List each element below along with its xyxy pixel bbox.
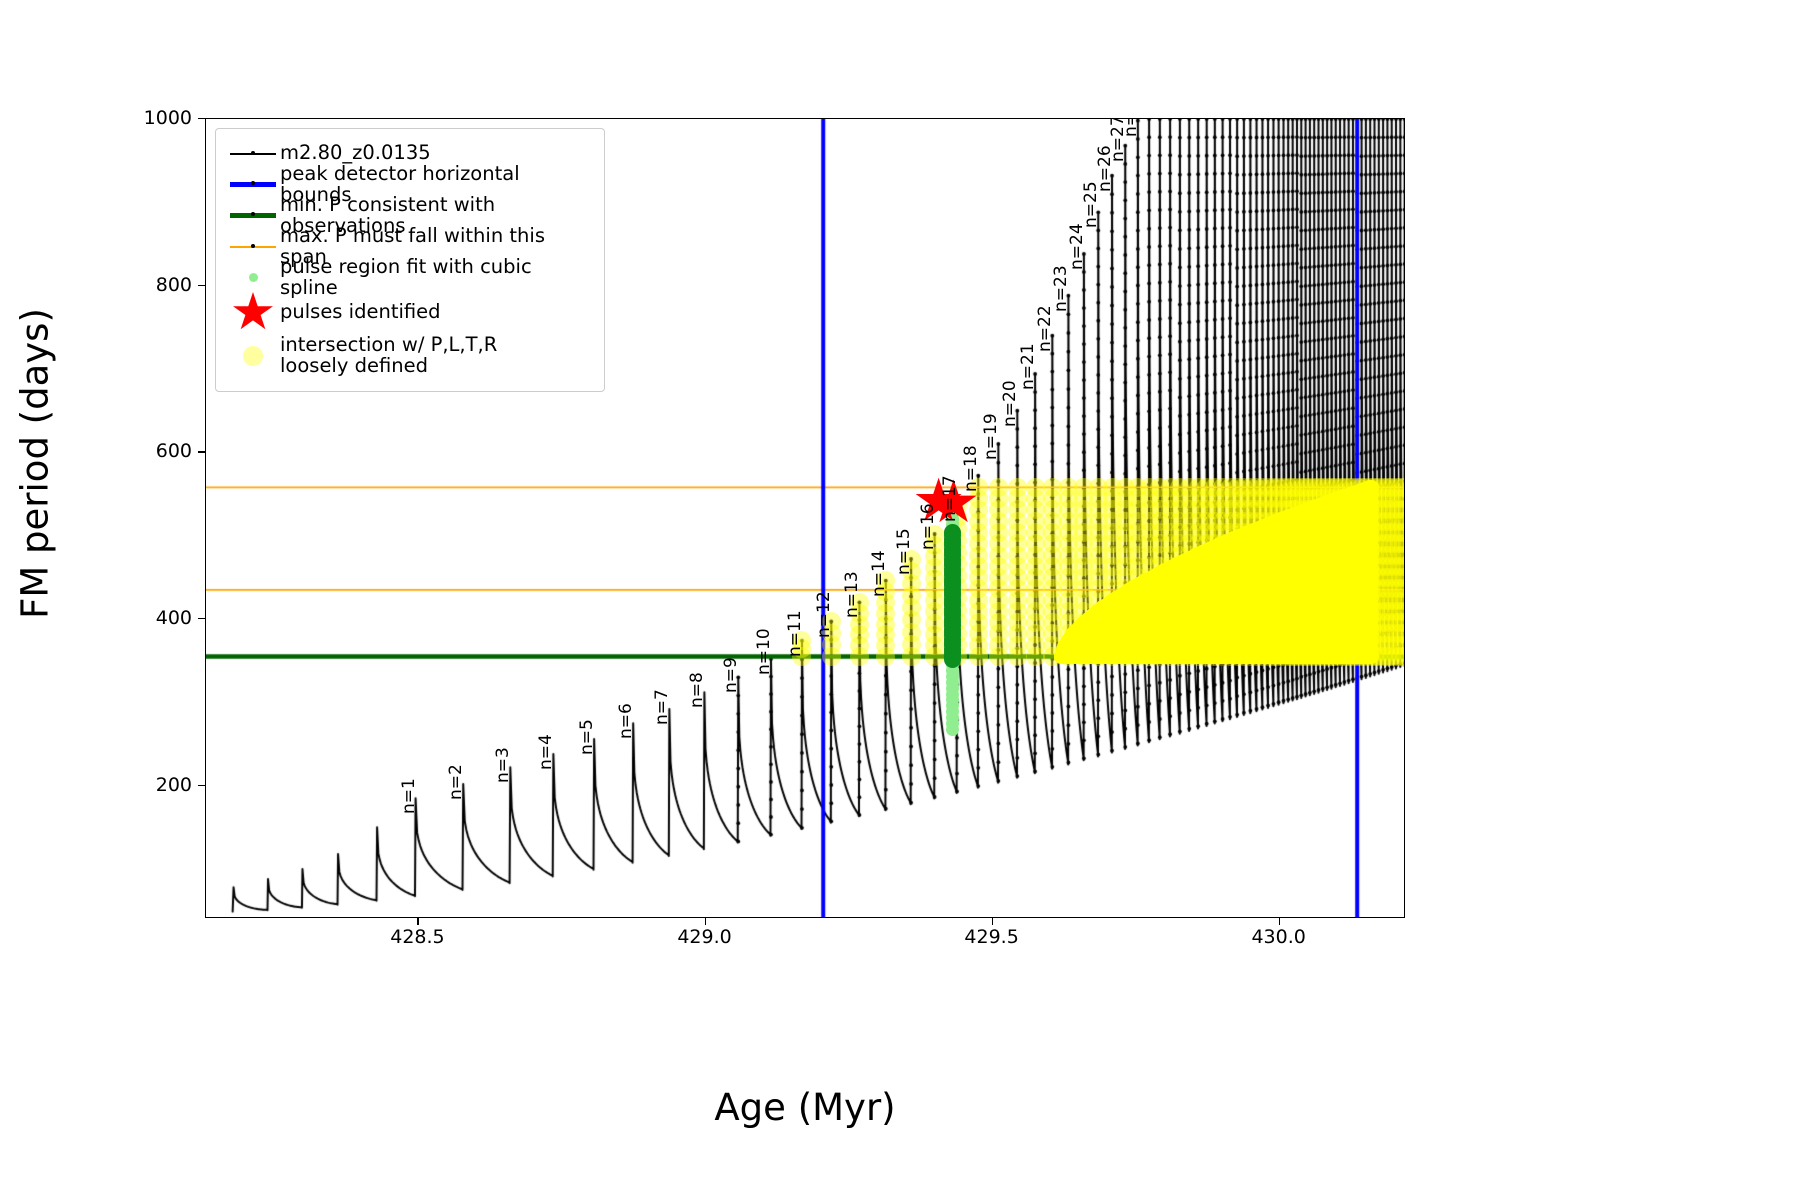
pulse-label-n11: n=11 xyxy=(785,610,805,657)
spline-peak-marker xyxy=(944,524,961,541)
pulse-label-n6: n=6 xyxy=(616,703,636,739)
pulse-label-n15: n=15 xyxy=(894,528,914,575)
x-tick-mark xyxy=(417,918,418,925)
pulse-label-n23: n=23 xyxy=(1051,265,1071,312)
y-tick-label: 400 xyxy=(156,607,192,629)
legend-key-line-icon xyxy=(226,138,280,169)
y-tick-label: 1000 xyxy=(144,107,192,129)
legend-label-intersection-line2: loosely defined xyxy=(280,354,428,377)
y-tick-mark xyxy=(198,118,205,119)
x-tick-label: 430.0 xyxy=(1251,926,1305,948)
x-axis-title: Age (Myr) xyxy=(205,1086,1405,1129)
pulse-label-n10: n=10 xyxy=(754,628,774,675)
pulse-label-n16: n=16 xyxy=(918,503,938,550)
pulse-label-n13: n=13 xyxy=(842,572,862,619)
intersection-marker xyxy=(989,478,1008,497)
pulse-label-n12: n=12 xyxy=(814,591,834,638)
intersection-marker xyxy=(1364,480,1379,495)
legend-label-spline: pulse region fit with cubic spline xyxy=(280,257,594,298)
pulse-label-n18: n=18 xyxy=(961,445,981,492)
legend-key-green-line-icon xyxy=(226,200,280,231)
x-tick-mark xyxy=(992,918,993,925)
legend-key-yellow-dot-icon xyxy=(226,331,280,381)
pulse-label-n3: n=3 xyxy=(493,747,513,783)
legend-item-pulses[interactable]: pulses identified xyxy=(226,293,594,331)
figure-canvas: FM period (days) Age (Myr) 2004006008001… xyxy=(0,0,1800,1200)
y-tick-label: 800 xyxy=(156,274,192,296)
x-tick-mark xyxy=(1279,918,1280,925)
pulse-label-n5: n=5 xyxy=(577,719,597,755)
y-tick-mark xyxy=(198,285,205,286)
pulse-label-n17: n=17 xyxy=(940,475,960,522)
intersection-marker xyxy=(1008,478,1027,497)
pulse-label-n7: n=7 xyxy=(652,689,672,725)
intersection-marker xyxy=(1026,478,1045,497)
x-tick-label: 429.0 xyxy=(677,926,731,948)
legend-key-green-dot-icon xyxy=(226,262,280,293)
pulse-label-n4: n=4 xyxy=(536,734,556,770)
pulse-label-n14: n=14 xyxy=(869,550,889,597)
x-tick-label: 428.5 xyxy=(390,926,444,948)
pulse-label-n28: n=28 xyxy=(1121,119,1141,137)
y-tick-label: 200 xyxy=(156,774,192,796)
y-tick-mark xyxy=(198,785,205,786)
legend-key-star-icon xyxy=(226,293,280,331)
x-tick-label: 429.5 xyxy=(964,926,1018,948)
legend-key-orange-line-icon xyxy=(226,231,280,262)
legend-key-blue-line-icon xyxy=(226,169,280,200)
pulse-label-n2: n=2 xyxy=(446,764,466,800)
pulse-label-n9: n=9 xyxy=(721,657,741,693)
legend-item-spline[interactable]: pulse region fit with cubic spline xyxy=(226,262,594,293)
legend-label-pulses: pulses identified xyxy=(280,302,594,323)
y-tick-mark xyxy=(198,451,205,452)
pulse-label-n8: n=8 xyxy=(687,672,707,708)
x-tick-mark xyxy=(705,918,706,925)
y-tick-label: 600 xyxy=(156,440,192,462)
y-axis-title: FM period (days) xyxy=(14,84,57,844)
legend-label-intersection-line1: intersection w/ P,L,T,R xyxy=(280,333,497,356)
pulse-label-n24: n=24 xyxy=(1067,223,1087,270)
pulse-label-n1: n=1 xyxy=(399,778,419,814)
legend-label-model: m2.80_z0.0135 xyxy=(280,143,594,164)
legend: m2.80_z0.0135 peak detector horizontal b… xyxy=(215,128,605,392)
legend-item-intersection[interactable]: intersection w/ P,L,T,R loosely defined xyxy=(226,331,594,381)
y-tick-mark xyxy=(198,618,205,619)
pulse-label-n19: n=19 xyxy=(981,413,1001,460)
